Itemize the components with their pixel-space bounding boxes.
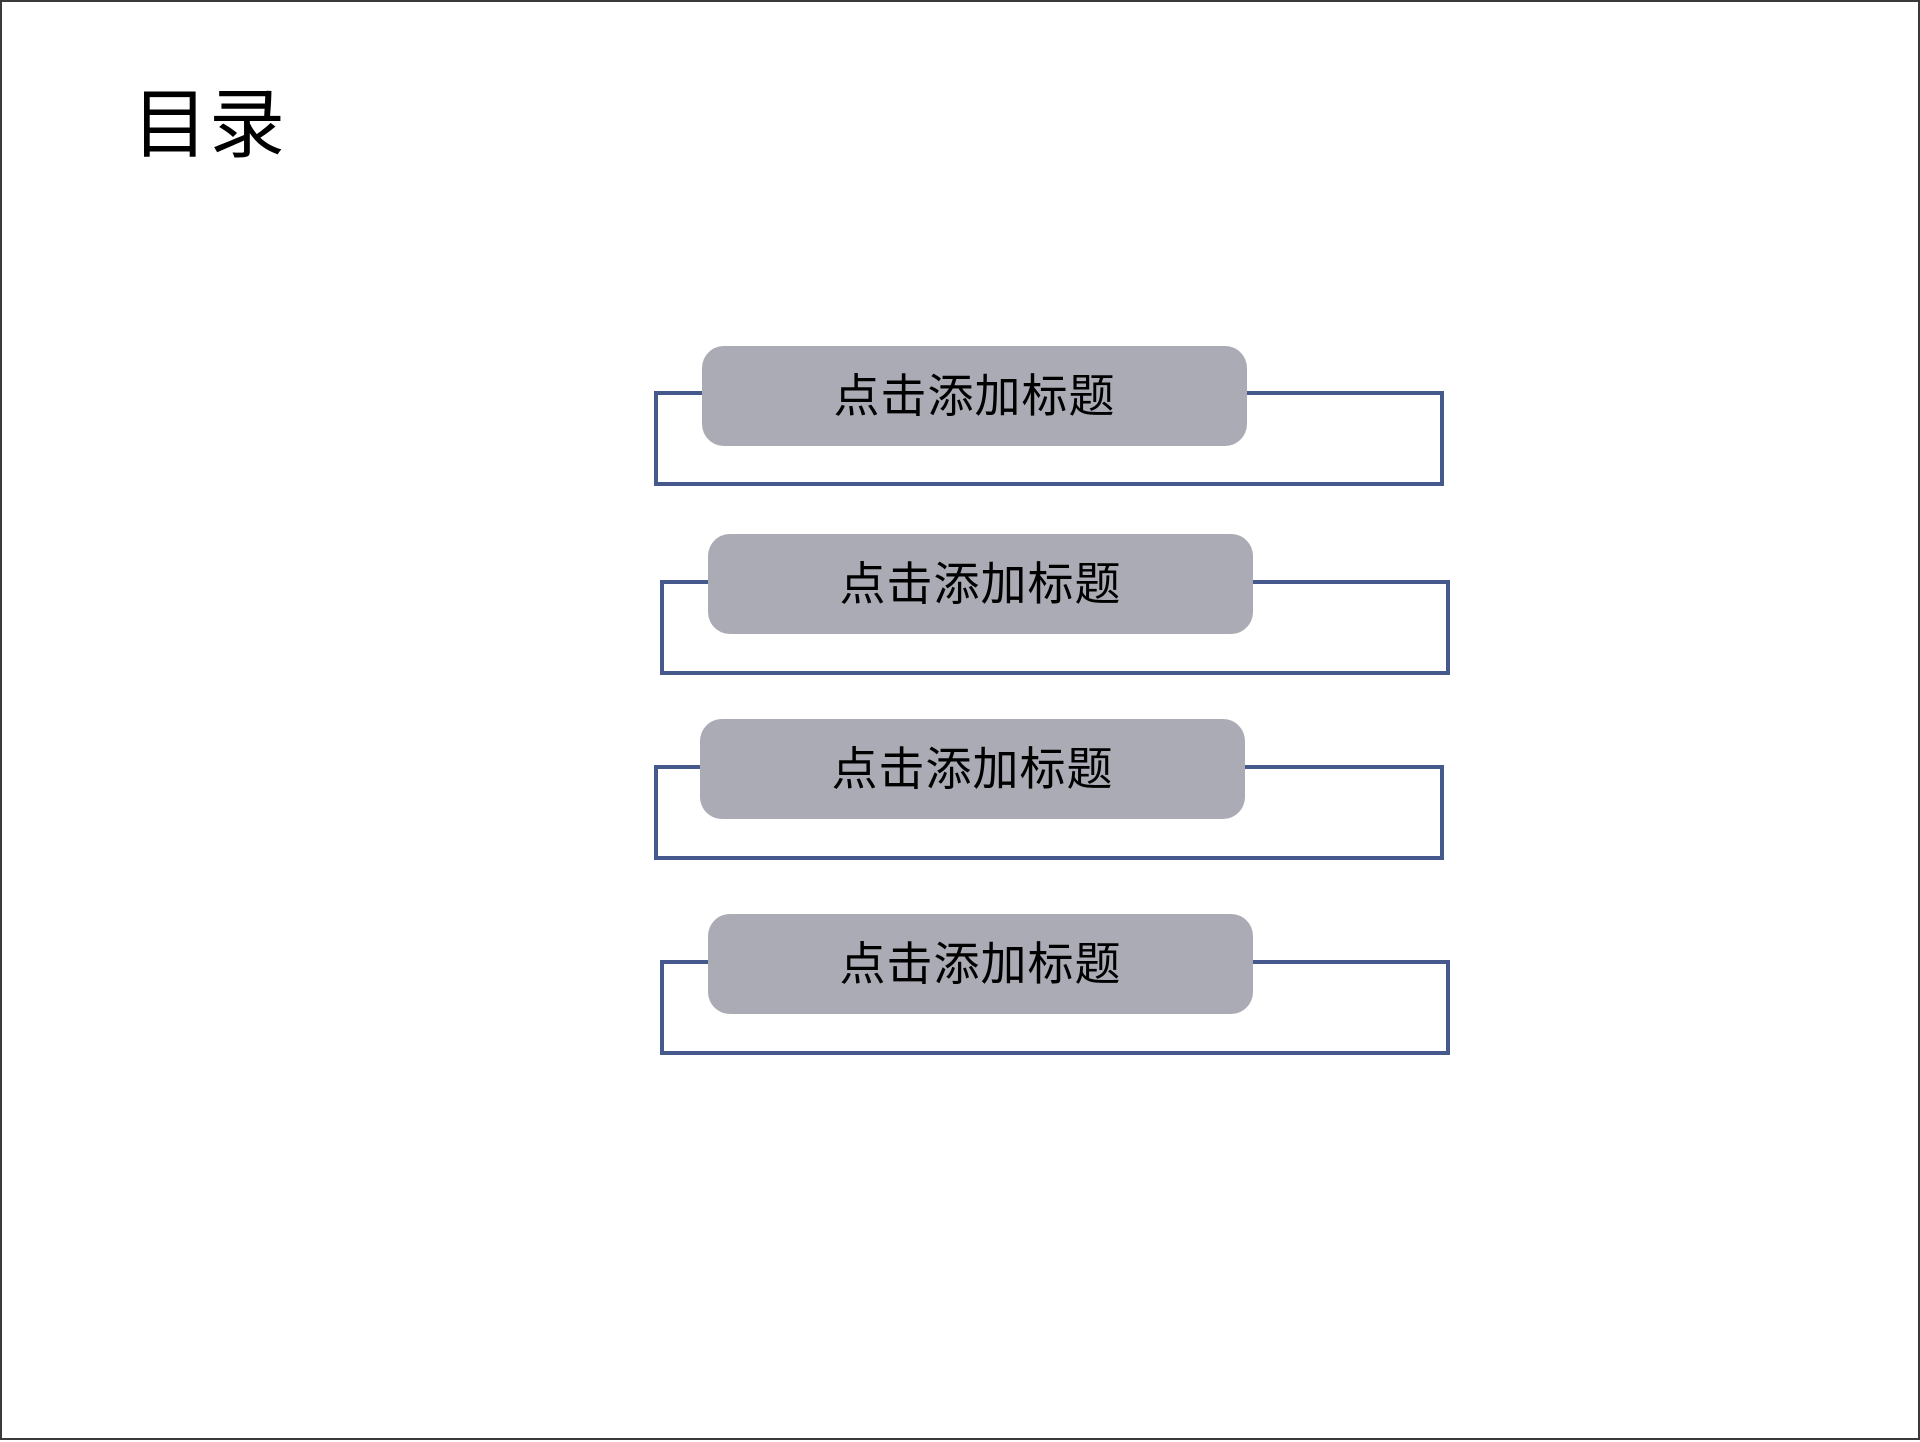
agenda-row-4-label: 点击添加标题 — [840, 941, 1122, 987]
slide-canvas: 目录 点击添加标题 点击添加标题 点击添加标题 点击添加 — [0, 0, 1920, 1440]
agenda-row-1-label: 点击添加标题 — [834, 373, 1116, 419]
agenda-row-2-plate[interactable]: 点击添加标题 — [708, 534, 1253, 634]
agenda-row-3-label: 点击添加标题 — [832, 746, 1114, 792]
agenda-row-1-plate[interactable]: 点击添加标题 — [702, 346, 1247, 446]
agenda-list: 点击添加标题 点击添加标题 点击添加标题 点击添加标题 — [2, 2, 1920, 1442]
agenda-row-4-plate[interactable]: 点击添加标题 — [708, 914, 1253, 1014]
agenda-row-2-label: 点击添加标题 — [840, 561, 1122, 607]
agenda-row-3-plate[interactable]: 点击添加标题 — [700, 719, 1245, 819]
